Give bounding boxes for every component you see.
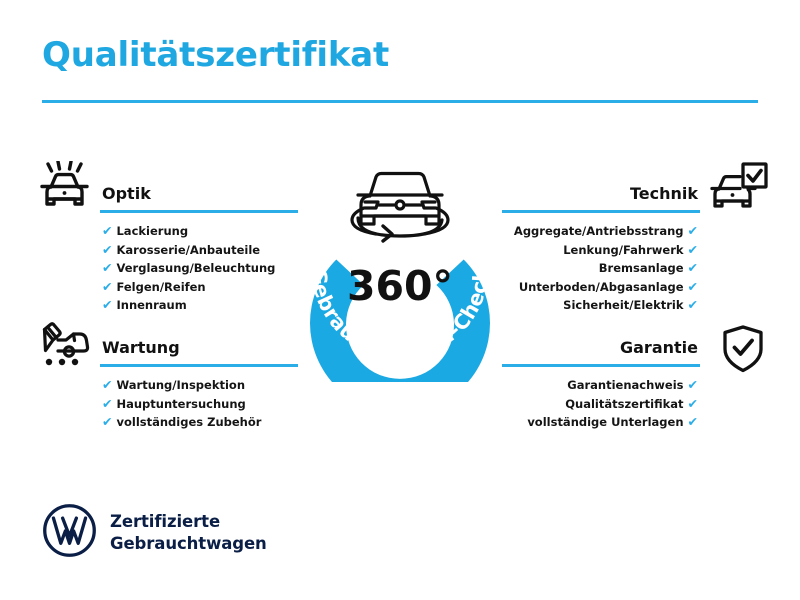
list-item: Qualitätszertifikat✔ (502, 395, 700, 414)
title-divider (42, 100, 758, 103)
section-divider-wartung (100, 364, 298, 367)
check-icon: ✔ (688, 396, 698, 411)
pen-car-service-icon (36, 319, 94, 373)
section-header-technik: Technik (502, 183, 700, 213)
list-item-label: Lenkung/Fahrwerk (563, 243, 683, 257)
section-header-garantie: Garantie (502, 337, 700, 367)
section-header-optik: Optik (100, 183, 298, 213)
list-item: Lenkung/Fahrwerk✔ (502, 241, 700, 260)
page-title: Qualitätszertifikat (42, 38, 389, 72)
check-icon: ✔ (102, 279, 112, 294)
check-icon: ✔ (102, 242, 112, 257)
badge-360-gebrauchtwagen-check: Gebrauchtwagen-Check 360° (288, 152, 512, 382)
check-icon: ✔ (102, 377, 112, 392)
list-item-label: Lackierung (116, 224, 188, 238)
vw-wordmark-line2: Gebrauchtwagen (110, 533, 267, 555)
section-title-optik: Optik (100, 183, 298, 205)
section-title-wartung: Wartung (100, 337, 298, 359)
checklist-technik: Aggregate/Antriebsstrang✔ Lenkung/Fahrwe… (502, 222, 700, 315)
list-item: ✔vollständiges Zubehör (100, 413, 298, 432)
section-wartung: Wartung ✔Wartung/Inspektion ✔Hauptunters… (100, 337, 298, 432)
list-item: ✔Lackierung (100, 222, 298, 241)
list-item-label: Wartung/Inspektion (116, 378, 245, 392)
list-item-label: Aggregate/Antriebsstrang (514, 224, 684, 238)
section-divider-technik (502, 210, 700, 213)
check-icon: ✔ (688, 242, 698, 257)
section-title-technik: Technik (502, 183, 700, 205)
list-item: ✔Innenraum (100, 296, 298, 315)
list-item-label: vollständiges Zubehör (116, 415, 261, 429)
list-item-label: Hauptuntersuchung (116, 397, 245, 411)
list-item: Aggregate/Antriebsstrang✔ (502, 222, 700, 241)
list-item: ✔Karosserie/Anbauteile (100, 241, 298, 260)
list-item-label: Bremsanlage (599, 261, 684, 275)
list-item: Unterboden/Abgasanlage✔ (502, 278, 700, 297)
section-title-garantie: Garantie (502, 337, 700, 359)
section-optik: Optik ✔Lackierung ✔Karosserie/Anbauteile… (100, 183, 298, 315)
section-header-wartung: Wartung (100, 337, 298, 367)
check-icon: ✔ (102, 223, 112, 238)
vw-wordmark: Zertifizierte Gebrauchtwagen (110, 511, 267, 555)
list-item-label: Sicherheit/Elektrik (563, 298, 683, 312)
check-icon: ✔ (688, 297, 698, 312)
shield-check-icon (714, 322, 772, 376)
vw-roundel-logo (42, 503, 97, 562)
car-rotate-icon (352, 174, 448, 242)
list-item-label: Garantienachweis (567, 378, 683, 392)
list-item-label: Karosserie/Anbauteile (116, 243, 260, 257)
list-item-label: Innenraum (116, 298, 186, 312)
check-icon: ✔ (102, 396, 112, 411)
check-icon: ✔ (688, 223, 698, 238)
section-divider-garantie (502, 364, 700, 367)
section-garantie: Garantie Garantienachweis✔ Qualitätszert… (502, 337, 700, 432)
check-icon: ✔ (688, 414, 698, 429)
list-item: ✔Felgen/Reifen (100, 278, 298, 297)
car-shine-icon (36, 161, 94, 215)
section-divider-optik (100, 210, 298, 213)
list-item: Garantienachweis✔ (502, 376, 700, 395)
check-icon: ✔ (102, 414, 112, 429)
check-icon: ✔ (688, 279, 698, 294)
car-checkbox-icon (710, 161, 768, 215)
check-icon: ✔ (688, 260, 698, 275)
check-icon: ✔ (102, 260, 112, 275)
checklist-garantie: Garantienachweis✔ Qualitätszertifikat✔ v… (502, 376, 700, 432)
list-item: vollständige Unterlagen✔ (502, 413, 700, 432)
list-item: Bremsanlage✔ (502, 259, 700, 278)
list-item-label: Qualitätszertifikat (565, 397, 683, 411)
check-icon: ✔ (688, 377, 698, 392)
check-icon: ✔ (102, 297, 112, 312)
list-item: ✔Hauptuntersuchung (100, 395, 298, 414)
checklist-wartung: ✔Wartung/Inspektion ✔Hauptuntersuchung ✔… (100, 376, 298, 432)
list-item-label: Verglasung/Beleuchtung (116, 261, 275, 275)
list-item-label: Unterboden/Abgasanlage (519, 280, 684, 294)
list-item: ✔Wartung/Inspektion (100, 376, 298, 395)
vw-wordmark-line1: Zertifizierte (110, 511, 267, 533)
list-item: Sicherheit/Elektrik✔ (502, 296, 700, 315)
list-item-label: Felgen/Reifen (116, 280, 205, 294)
section-technik: Technik Aggregate/Antriebsstrang✔ Lenkun… (502, 183, 700, 315)
list-item: ✔Verglasung/Beleuchtung (100, 259, 298, 278)
vw-certified-used-cars-lockup: Zertifizierte Gebrauchtwagen (42, 503, 267, 562)
badge-center-label: 360° (347, 262, 453, 310)
list-item-label: vollständige Unterlagen (527, 415, 683, 429)
checklist-optik: ✔Lackierung ✔Karosserie/Anbauteile ✔Verg… (100, 222, 298, 315)
